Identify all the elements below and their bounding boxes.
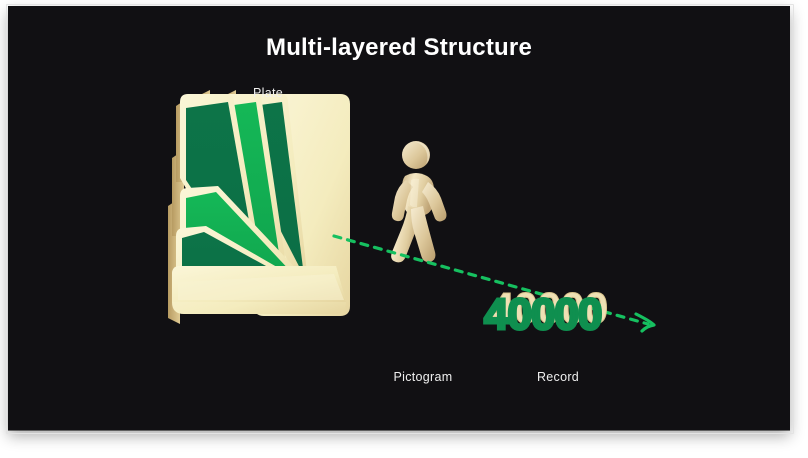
record-number-value: 40000 [484, 290, 601, 340]
slide-stage: Multi-layered Structure [0, 0, 808, 458]
record-number[interactable]: 40000 40000 [484, 288, 664, 344]
page-title: Multi-layered Structure [8, 34, 790, 62]
label-record: Record [498, 370, 618, 384]
label-plate: Plate [208, 86, 328, 326]
label-pictogram: Pictogram [363, 370, 483, 384]
slide-panel: Multi-layered Structure [8, 6, 790, 430]
